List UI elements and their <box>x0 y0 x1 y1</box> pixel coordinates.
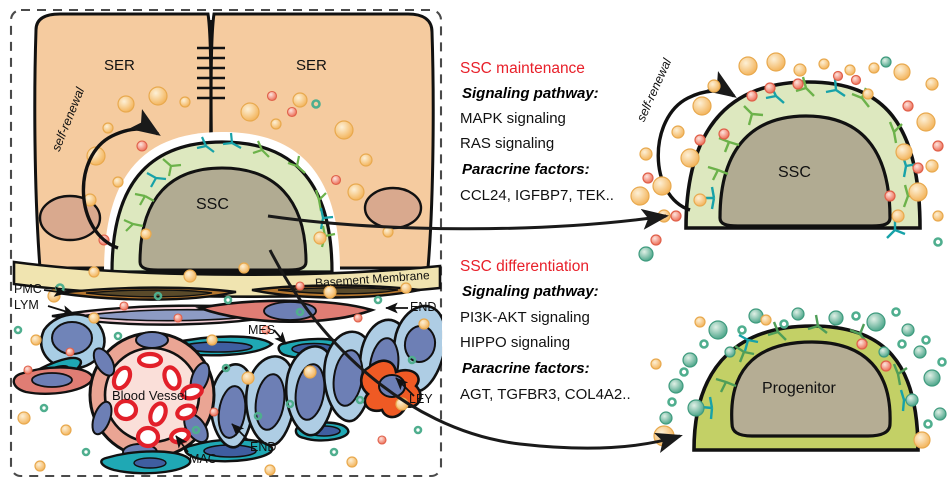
label-lym: LYM <box>14 298 39 312</box>
maintenance-title: SSC maintenance <box>460 60 585 78</box>
label-end-upper: END <box>410 300 436 314</box>
blood-vessel-label: Blood Vessel <box>112 388 187 403</box>
differentiation-pathway-heading: Signaling pathway: <box>462 283 599 300</box>
label-end-lower: END <box>250 440 276 454</box>
label-mes: MES <box>248 323 275 337</box>
maintenance-pathway-1: MAPK signaling <box>460 110 566 127</box>
differentiation-pathway-2: HIPPO signaling <box>460 334 570 351</box>
differentiation-title: SSC differentiation <box>460 258 589 276</box>
ssc-label-right: SSC <box>778 164 811 182</box>
ssc-label-left: SSC <box>196 196 229 214</box>
label-mac: MAC <box>189 452 217 466</box>
maintenance-pathway-heading: Signaling pathway: <box>462 85 599 102</box>
maintenance-factors: CCL24, IGFBP7, TEK.. <box>460 187 614 204</box>
sertoli-label-left: SER <box>104 57 135 74</box>
figure-root: SER SER SSC self-renewal Basement Membra… <box>0 0 948 487</box>
differentiation-factors: AGT, TGFBR3, COL4A2.. <box>460 386 631 403</box>
maintenance-factors-heading: Paracrine factors: <box>462 161 590 178</box>
progenitor-label: Progenitor <box>762 380 836 398</box>
sertoli-inclusion-right <box>365 188 421 228</box>
label-ley: LEY <box>409 392 433 406</box>
differentiation-factors-heading: Paracrine factors: <box>462 360 590 377</box>
label-pmc: PMC <box>14 282 42 296</box>
differentiation-pathway-1: PI3K-AKT signaling <box>460 309 590 326</box>
maintenance-pathway-2: RAS signaling <box>460 135 554 152</box>
sertoli-label-right: SER <box>296 57 327 74</box>
